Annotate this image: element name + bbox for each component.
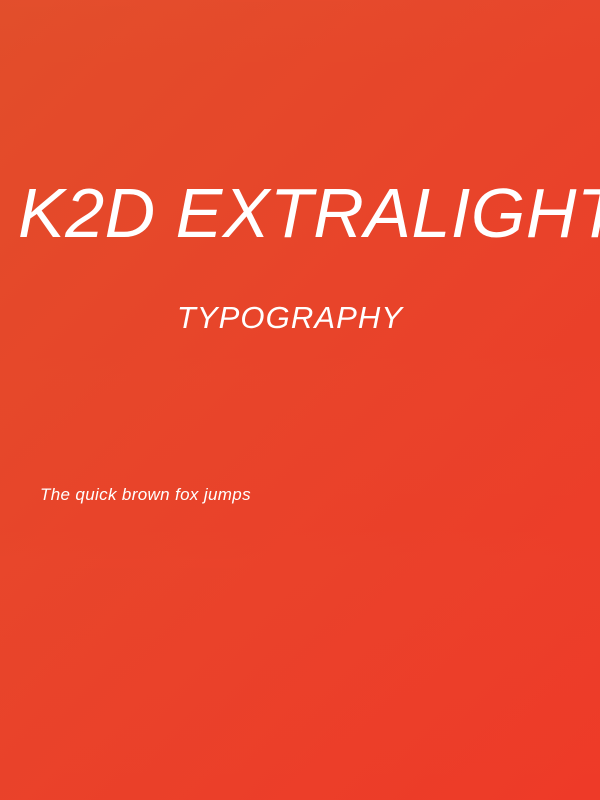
specimen-subtitle: TYPOGRAPHY	[0, 302, 580, 333]
font-name-headline: K2D EXTRALIGHT ITALIC	[18, 178, 600, 248]
headline-row: K2D EXTRALIGHT ITALIC	[0, 0, 600, 300]
font-specimen-card: K2D EXTRALIGHT ITALIC TYPOGRAPHY The qui…	[0, 0, 600, 800]
pangram-sample-text: The quick brown fox jumps	[40, 485, 251, 505]
